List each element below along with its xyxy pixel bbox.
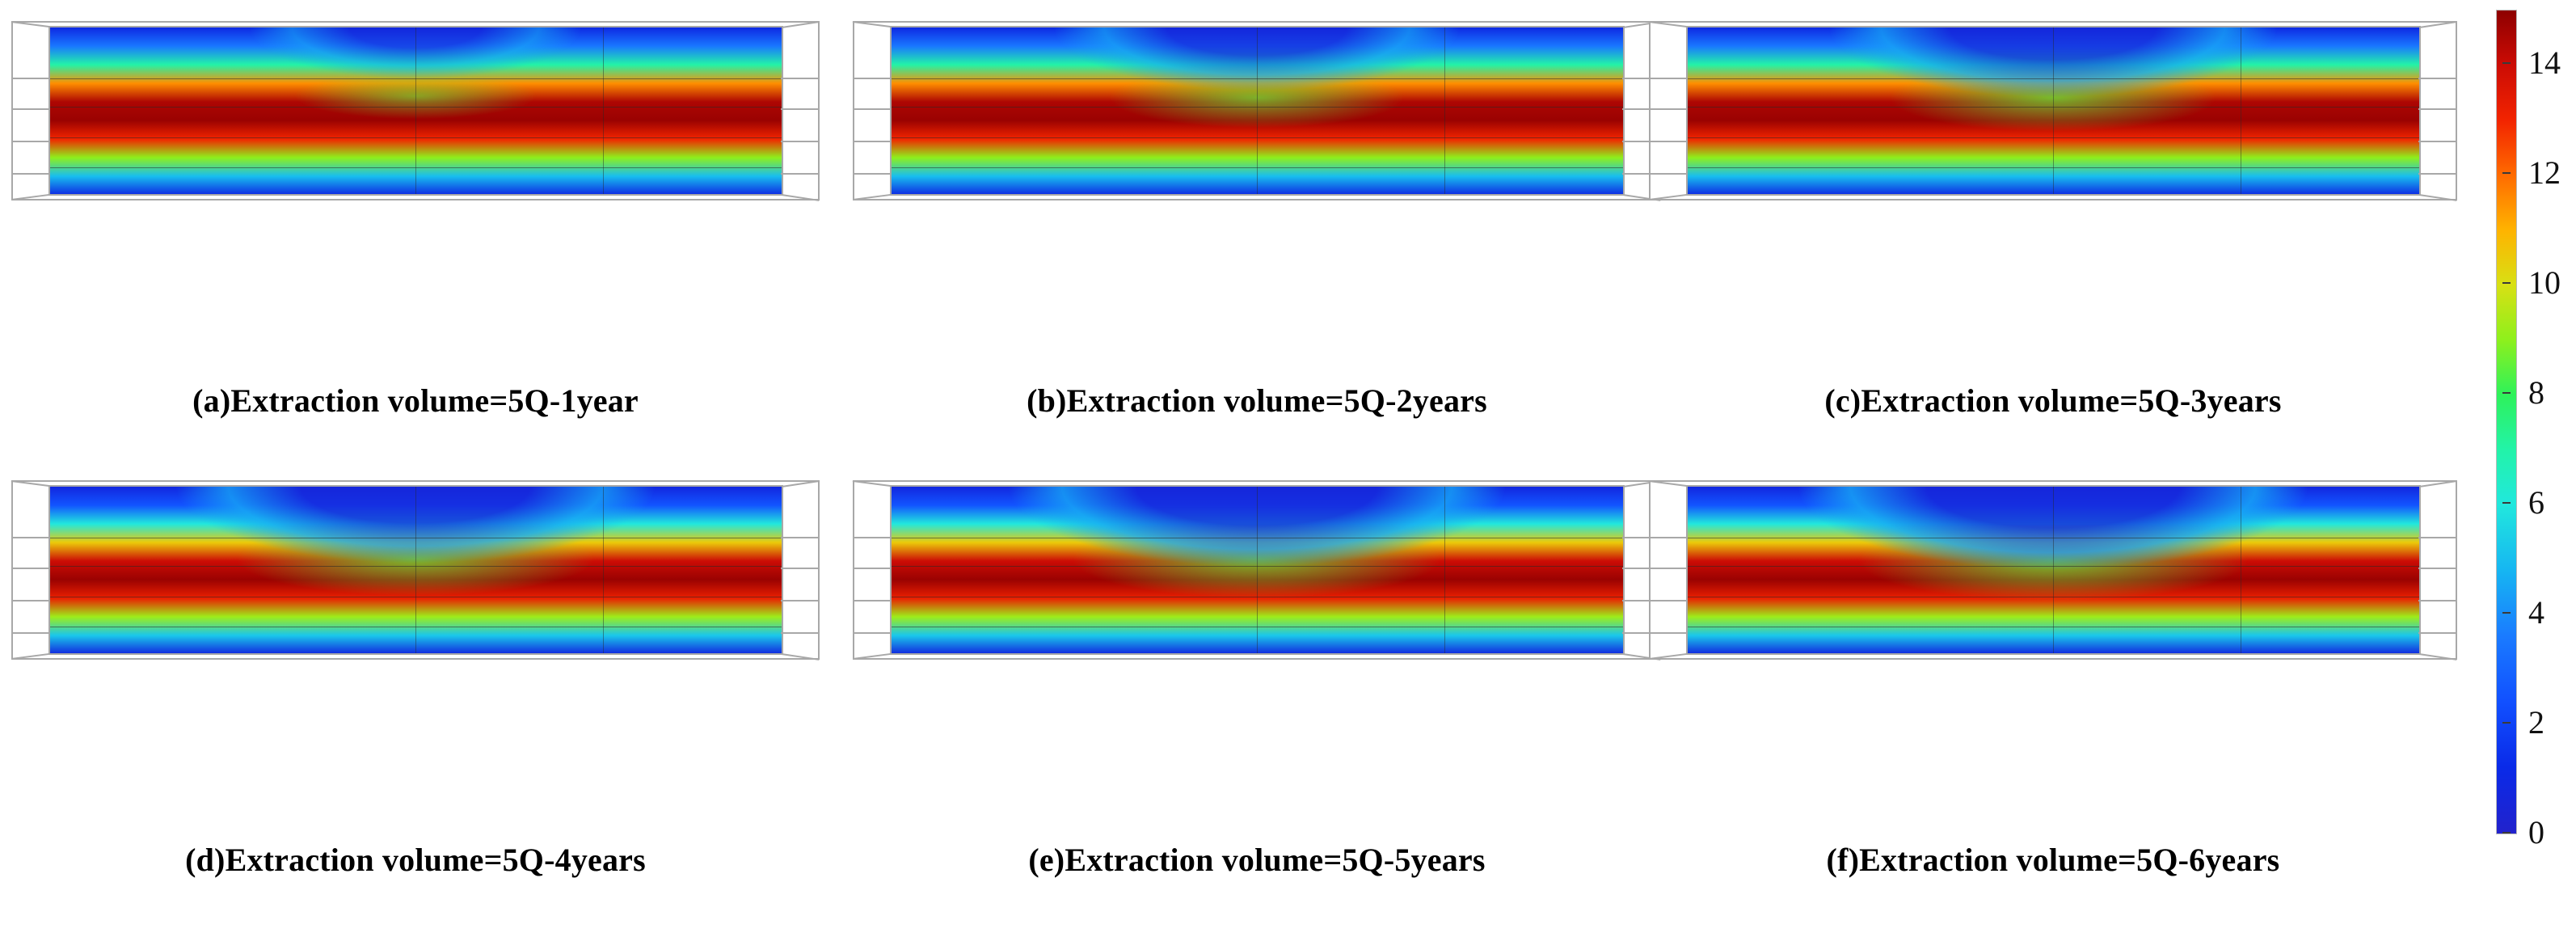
box-shelf-left [11,108,50,110]
box-edge-back-bottom [853,658,1661,660]
contour-field-c [1686,27,2420,195]
panel-f[interactable]: (f)Extraction volume=5Q-6years [1649,469,2457,889]
box-shelf-left [853,537,892,538]
box-edge-top [890,485,1624,487]
contour-field-d [48,487,782,654]
box-shelf-left [853,568,892,569]
box-shelf-left [1649,537,1688,538]
well-line [1257,487,1258,654]
box-shelf-left [11,78,50,79]
colorbar-tick [2502,392,2511,394]
box-shelf-left [11,632,50,634]
colorbar-tick [2502,282,2511,284]
box-shelf-right [781,568,820,569]
plot-box-f [1649,480,2457,660]
colorbar[interactable] [2496,10,2517,834]
box-edge-back-bottom [11,199,820,200]
box-shelf-left [853,600,892,601]
box-edge-inner-left [1686,26,1688,195]
box-edge-top [48,485,782,487]
panel-caption-a: (a)Extraction volume=5Q-1year [11,382,820,420]
well-line [2053,487,2054,654]
colorbar-label-2: 2 [2528,707,2544,739]
well-line [2241,27,2241,195]
colorbar-tick [2502,62,2511,64]
box-shelf-left [11,537,50,538]
colorbar-label-8: 8 [2528,377,2544,409]
box-shelf-right [781,537,820,538]
well-line [1444,487,1445,654]
colorbar-tick [2502,172,2511,174]
box-shelf-right [781,78,820,79]
box-edge-back-top [1649,480,2457,482]
box-edge-bottom [1686,194,2420,196]
well-line [1257,27,1258,195]
colorbar-tick [2502,722,2511,724]
box-shelf-left [853,108,892,110]
box-edge-back-top [853,480,1661,482]
box-edge-inner-left [890,26,892,195]
colorbar-label-0: 0 [2528,817,2544,849]
well-line [603,27,604,195]
contour-field-f [1686,487,2420,654]
plot-box-d [11,480,820,660]
plot-box-e [853,480,1661,660]
plot-box-c [1649,21,2457,200]
box-edge-inner-right [2419,485,2421,654]
box-shelf-left [853,173,892,175]
colorbar-label-10: 10 [2528,267,2561,299]
box-edge-inner-right [1623,26,1625,195]
box-shelf-left [11,173,50,175]
box-edge-inner-left [48,485,50,654]
box-shelf-right [2418,600,2457,601]
panel-b[interactable]: (b)Extraction volume=5Q-2years [853,10,1661,430]
box-shelf-left [853,632,892,634]
panel-caption-d: (d)Extraction volume=5Q-4years [11,841,820,879]
panel-d[interactable]: (d)Extraction volume=5Q-4years [11,469,820,889]
colorbar-gradient [2496,10,2517,834]
box-shelf-left [853,141,892,142]
box-shelf-left [1649,108,1688,110]
well-line [415,27,416,195]
box-shelf-left [1649,632,1688,634]
box-edge-bottom [890,653,1624,655]
box-edge-bottom [48,653,782,655]
colorbar-tick [2502,612,2511,614]
box-shelf-left [11,568,50,569]
box-edge-top [1686,26,2420,27]
box-edge-inner-right [782,26,783,195]
colorbar-label-12: 12 [2528,157,2561,189]
box-edge-back-bottom [1649,658,2457,660]
box-edge-bottom [1686,653,2420,655]
box-shelf-right [781,108,820,110]
box-edge-top [890,26,1624,27]
colorbar-label-4: 4 [2528,597,2544,629]
box-edge-inner-right [2419,26,2421,195]
box-edge-top [1686,485,2420,487]
panel-caption-f: (f)Extraction volume=5Q-6years [1649,841,2457,879]
box-shelf-right [2418,632,2457,634]
plot-box-b [853,21,1661,200]
box-edge-back-bottom [11,658,820,660]
box-edge-inner-left [890,485,892,654]
colorbar-label-6: 6 [2528,487,2544,519]
well-line [1444,27,1445,195]
box-shelf-left [11,141,50,142]
colorbar-label-14: 14 [2528,47,2561,79]
panel-c[interactable]: (c)Extraction volume=5Q-3years [1649,10,2457,430]
colorbar-tick [2502,502,2511,504]
panel-e[interactable]: (e)Extraction volume=5Q-5years [853,469,1661,889]
box-shelf-left [853,78,892,79]
box-shelf-right [2418,141,2457,142]
box-edge-back-top [853,21,1661,23]
box-edge-back-top [1649,21,2457,23]
figure-canvas: (a)Extraction volume=5Q-1year [0,0,2576,937]
box-edge-bottom [48,194,782,196]
well-line [2053,27,2054,195]
box-edge-inner-left [1686,485,1688,654]
box-edge-back-bottom [853,199,1661,200]
box-edge-back-top [11,480,820,482]
contour-field-e [890,487,1624,654]
box-edge-back-bottom [1649,199,2457,200]
contour-field-a [48,27,782,195]
box-edge-inner-right [1623,485,1625,654]
box-shelf-right [781,632,820,634]
box-shelf-right [781,141,820,142]
box-shelf-right [781,600,820,601]
box-edge-inner-right [782,485,783,654]
box-edge-bottom [890,194,1624,196]
box-shelf-right [781,173,820,175]
panel-a[interactable]: (a)Extraction volume=5Q-1year [11,10,820,430]
box-shelf-left [1649,600,1688,601]
colorbar-tick [2502,832,2511,834]
panel-caption-b: (b)Extraction volume=5Q-2years [853,382,1661,420]
box-edge-inner-left [48,26,50,195]
box-shelf-left [1649,141,1688,142]
panel-caption-c: (c)Extraction volume=5Q-3years [1649,382,2457,420]
box-shelf-right [2418,537,2457,538]
box-shelf-left [11,600,50,601]
well-line [415,487,416,654]
well-line [2241,487,2241,654]
plot-box-a [11,21,820,200]
box-shelf-left [1649,568,1688,569]
well-line [603,487,604,654]
box-shelf-left [1649,78,1688,79]
panel-caption-e: (e)Extraction volume=5Q-5years [853,841,1661,879]
box-shelf-left [1649,173,1688,175]
box-edge-back-top [11,21,820,23]
box-shelf-right [2418,108,2457,110]
box-edge-top [48,26,782,27]
box-shelf-right [2418,173,2457,175]
contour-field-b [890,27,1624,195]
box-shelf-right [2418,78,2457,79]
box-shelf-right [2418,568,2457,569]
